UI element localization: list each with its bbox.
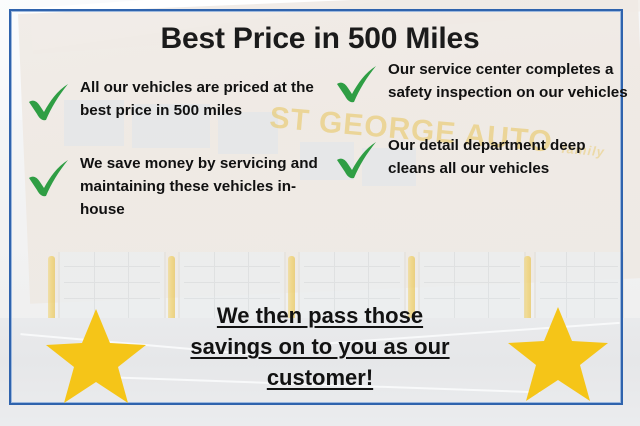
star-icon	[506, 305, 610, 405]
green-check-icon	[334, 64, 380, 104]
benefit-column-left: All our vehicles are priced at the best …	[22, 76, 322, 243]
benefit-column-right: Our service center completes a safety in…	[330, 58, 630, 202]
green-check-icon	[26, 158, 72, 198]
list-item: Our service center completes a safety in…	[330, 58, 630, 104]
banner-content: Best Price in 500 Miles All our vehicles…	[0, 0, 640, 426]
page-title: Best Price in 500 Miles	[0, 22, 640, 56]
benefit-text: Our service center completes a safety in…	[388, 61, 628, 101]
green-check-icon	[334, 140, 380, 180]
tagline: We then pass those savings on to you as …	[120, 300, 520, 394]
benefit-text: We save money by servicing and maintaini…	[80, 155, 318, 218]
list-item: All our vehicles are priced at the best …	[22, 76, 322, 122]
tagline-line-1: We then pass those	[217, 303, 423, 328]
list-item: Our detail department deep cleans all ou…	[330, 134, 630, 180]
benefit-text: All our vehicles are priced at the best …	[80, 79, 314, 119]
benefit-text: Our detail department deep cleans all ou…	[388, 137, 585, 177]
list-item: We save money by servicing and maintaini…	[22, 152, 322, 221]
green-check-icon	[26, 82, 72, 122]
tagline-line-2: savings on to you as our	[190, 334, 449, 359]
best-price-banner: ST GEORGE AUTO family	[0, 0, 640, 426]
tagline-line-3: customer!	[267, 365, 373, 390]
